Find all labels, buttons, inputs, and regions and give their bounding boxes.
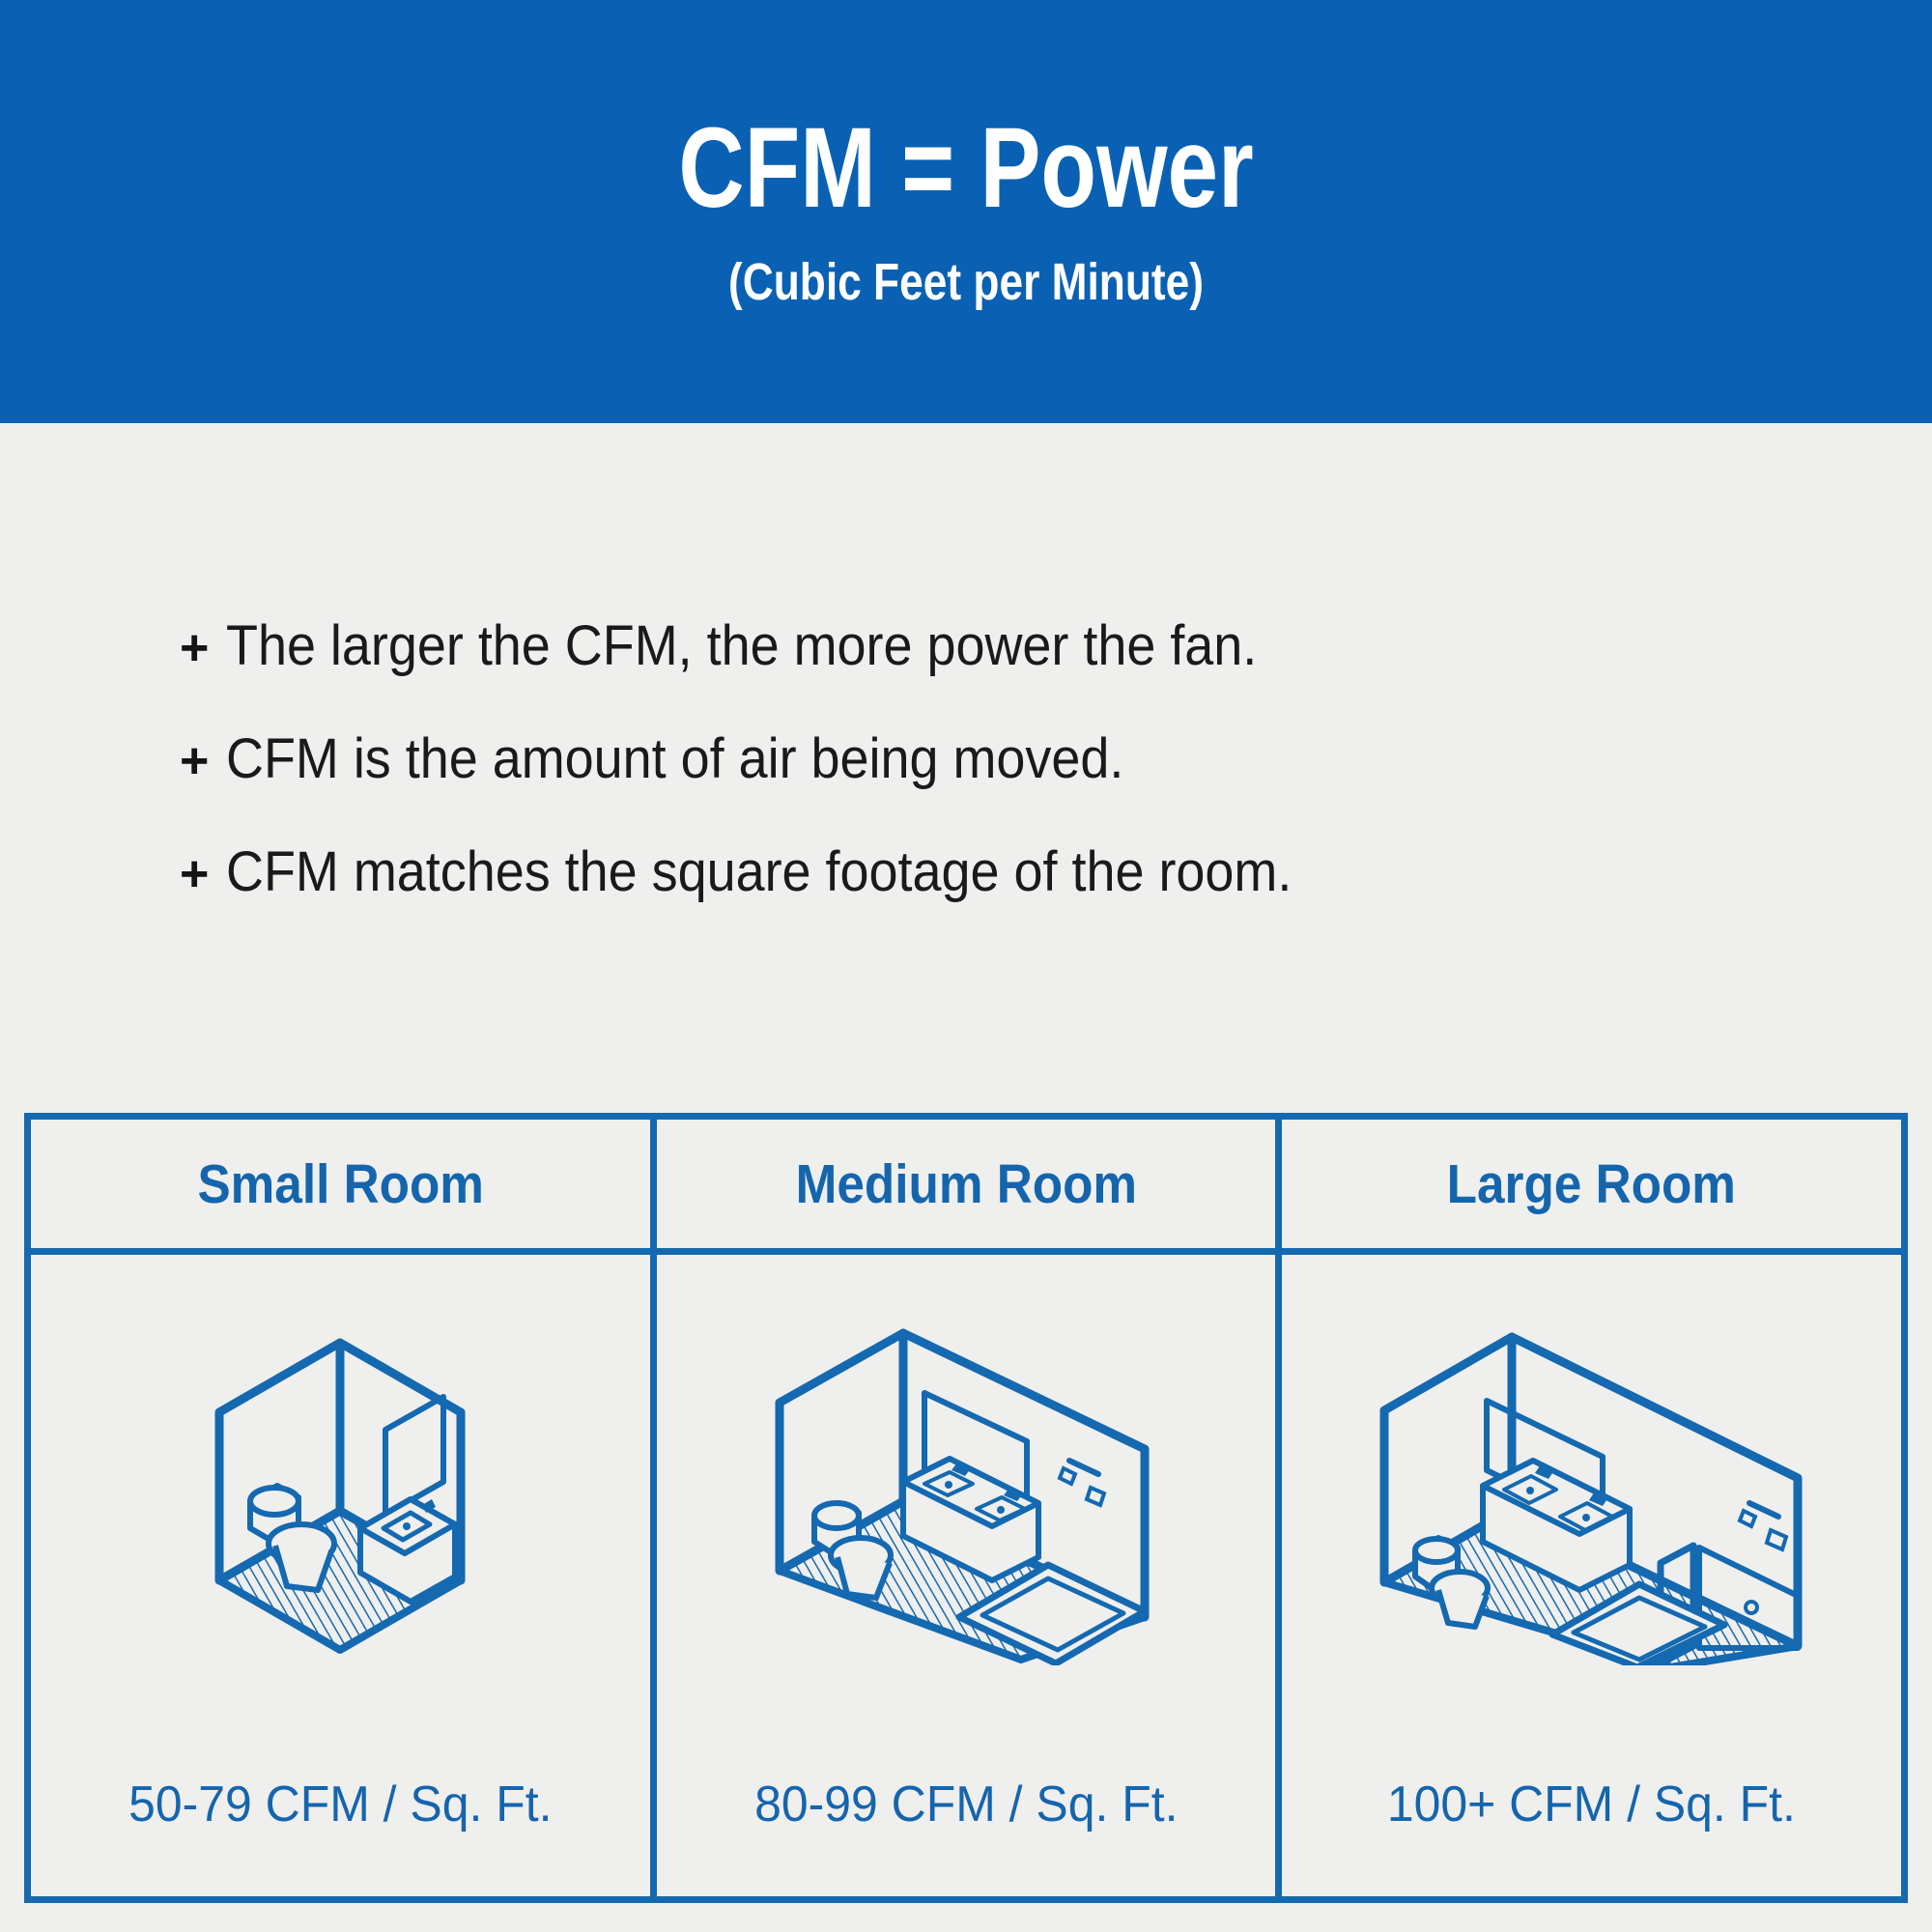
table-cell-small-room: 50-79 CFM / Sq. Ft. bbox=[31, 1255, 650, 1896]
header-banner: CFM = Power (Cubic Feet per Minute) bbox=[0, 0, 1932, 423]
list-item: + The larger the CFM, the more power the… bbox=[180, 618, 1822, 731]
medium-bathroom-isometric-icon bbox=[758, 1327, 1174, 1665]
bullet-text: CFM matches the square footage of the ro… bbox=[226, 844, 1292, 900]
plus-icon: + bbox=[180, 736, 226, 786]
cfm-range-label: 50-79 CFM / Sq. Ft. bbox=[128, 1776, 552, 1833]
list-item: + CFM is the amount of air being moved. bbox=[180, 731, 1822, 844]
table-cell-medium-room: 80-99 CFM / Sq. Ft. bbox=[650, 1255, 1276, 1896]
plus-icon: + bbox=[180, 623, 226, 673]
column-header-label: Medium Room bbox=[795, 1152, 1136, 1216]
cfm-label-cell: 80-99 CFM / Sq. Ft. bbox=[657, 1713, 1276, 1896]
bullet-text: The larger the CFM, the more power the f… bbox=[226, 618, 1257, 674]
list-item: + CFM matches the square footage of the … bbox=[180, 844, 1822, 957]
cfm-label-cell: 100+ CFM / Sq. Ft. bbox=[1282, 1713, 1901, 1896]
medium-bathroom-illustration bbox=[657, 1280, 1276, 1713]
room-size-table: Small Room Medium Room Large Room bbox=[24, 1113, 1908, 1903]
cfm-range-label: 100+ CFM / Sq. Ft. bbox=[1387, 1776, 1796, 1833]
column-header-label: Small Room bbox=[197, 1152, 483, 1216]
large-bathroom-illustration bbox=[1282, 1280, 1901, 1713]
page-subtitle: (Cubic Feet per Minute) bbox=[728, 252, 1204, 312]
table-cell-large-room: 100+ CFM / Sq. Ft. bbox=[1275, 1255, 1901, 1896]
plus-icon: + bbox=[180, 849, 226, 899]
bullet-text: CFM is the amount of air being moved. bbox=[226, 731, 1123, 787]
table-body-row: 50-79 CFM / Sq. Ft. bbox=[31, 1255, 1901, 1896]
column-header-large-room: Large Room bbox=[1275, 1120, 1901, 1248]
small-bathroom-illustration bbox=[31, 1280, 650, 1713]
table-header-row: Small Room Medium Room Large Room bbox=[31, 1120, 1901, 1255]
column-header-label: Large Room bbox=[1447, 1152, 1736, 1216]
column-header-medium-room: Medium Room bbox=[650, 1120, 1276, 1248]
bullet-list: + The larger the CFM, the more power the… bbox=[180, 618, 1822, 957]
large-bathroom-isometric-icon bbox=[1365, 1327, 1819, 1665]
cfm-label-cell: 50-79 CFM / Sq. Ft. bbox=[31, 1713, 650, 1896]
small-bathroom-isometric-icon bbox=[181, 1327, 499, 1665]
column-header-small-room: Small Room bbox=[31, 1120, 650, 1248]
cfm-range-label: 80-99 CFM / Sq. Ft. bbox=[754, 1776, 1178, 1833]
page-title: CFM = Power bbox=[678, 111, 1253, 225]
